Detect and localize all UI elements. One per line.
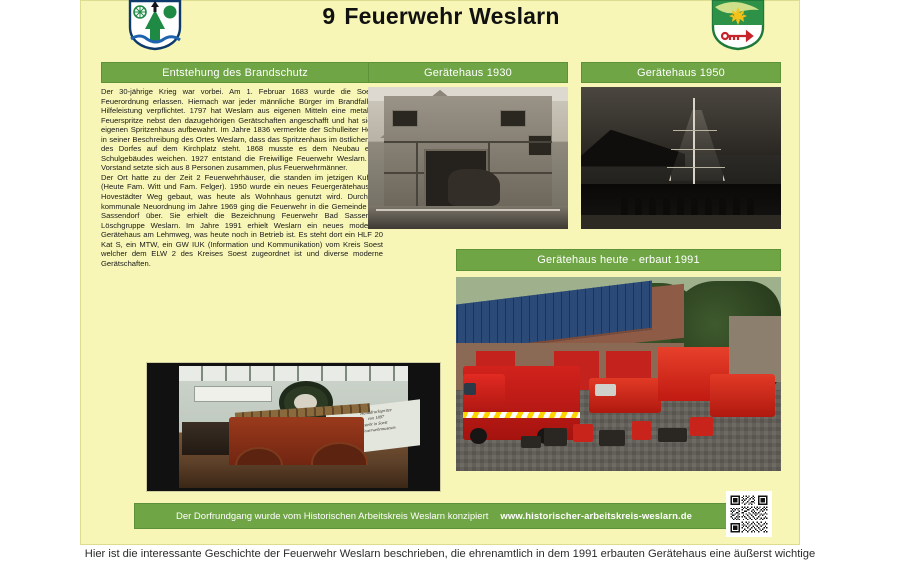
heading-bar-photo-1930: Gerätehaus 1930 xyxy=(368,62,568,83)
photo-geraetehaus-1930 xyxy=(368,87,568,229)
information-poster: 9Feuerwehr Weslarn Entstehu xyxy=(80,0,800,545)
heading-bar-photo-today: Gerätehaus heute - erbaut 1991 xyxy=(456,249,781,271)
poster-header: 9Feuerwehr Weslarn xyxy=(81,1,801,53)
article-paragraph-2: Der Ort hatte zu der Zeit 2 Feuerwehrhäu… xyxy=(101,173,383,268)
page-title: 9Feuerwehr Weslarn xyxy=(81,3,801,30)
footer-credit-text: Der Dorfrundgang wurde vom Historischen … xyxy=(176,511,488,522)
page-title-number: 9 xyxy=(322,3,335,29)
page-title-text: Feuerwehr Weslarn xyxy=(344,3,559,29)
photo-geraetehaus-heute xyxy=(456,277,781,471)
qr-code-icon[interactable] xyxy=(726,491,772,537)
heading-bar-photo-1950: Gerätehaus 1950 xyxy=(581,62,781,83)
crest-bad-sassendorf-icon xyxy=(709,0,767,51)
footer-credit-bar: Der Dorfrundgang wurde vom Historischen … xyxy=(134,503,734,529)
footer-url[interactable]: www.historischer-arbeitskreis-weslarn.de xyxy=(500,511,692,522)
article-text: Der 30-jährige Krieg war vorbei. Am 1. F… xyxy=(101,87,383,268)
photo-geraetehaus-1950 xyxy=(581,87,781,229)
page-caption: Hier ist die interessante Geschichte der… xyxy=(0,545,900,563)
heading-bar-article: Entstehung des Brandschutz xyxy=(101,62,369,83)
photo-handdruckspritze: Handdruckspritze von 1897 steht in Soest… xyxy=(146,362,441,492)
article-paragraph-1: Der 30-jährige Krieg war vorbei. Am 1. F… xyxy=(101,87,383,173)
screenshot-root: 9Feuerwehr Weslarn Entstehu xyxy=(0,0,900,563)
